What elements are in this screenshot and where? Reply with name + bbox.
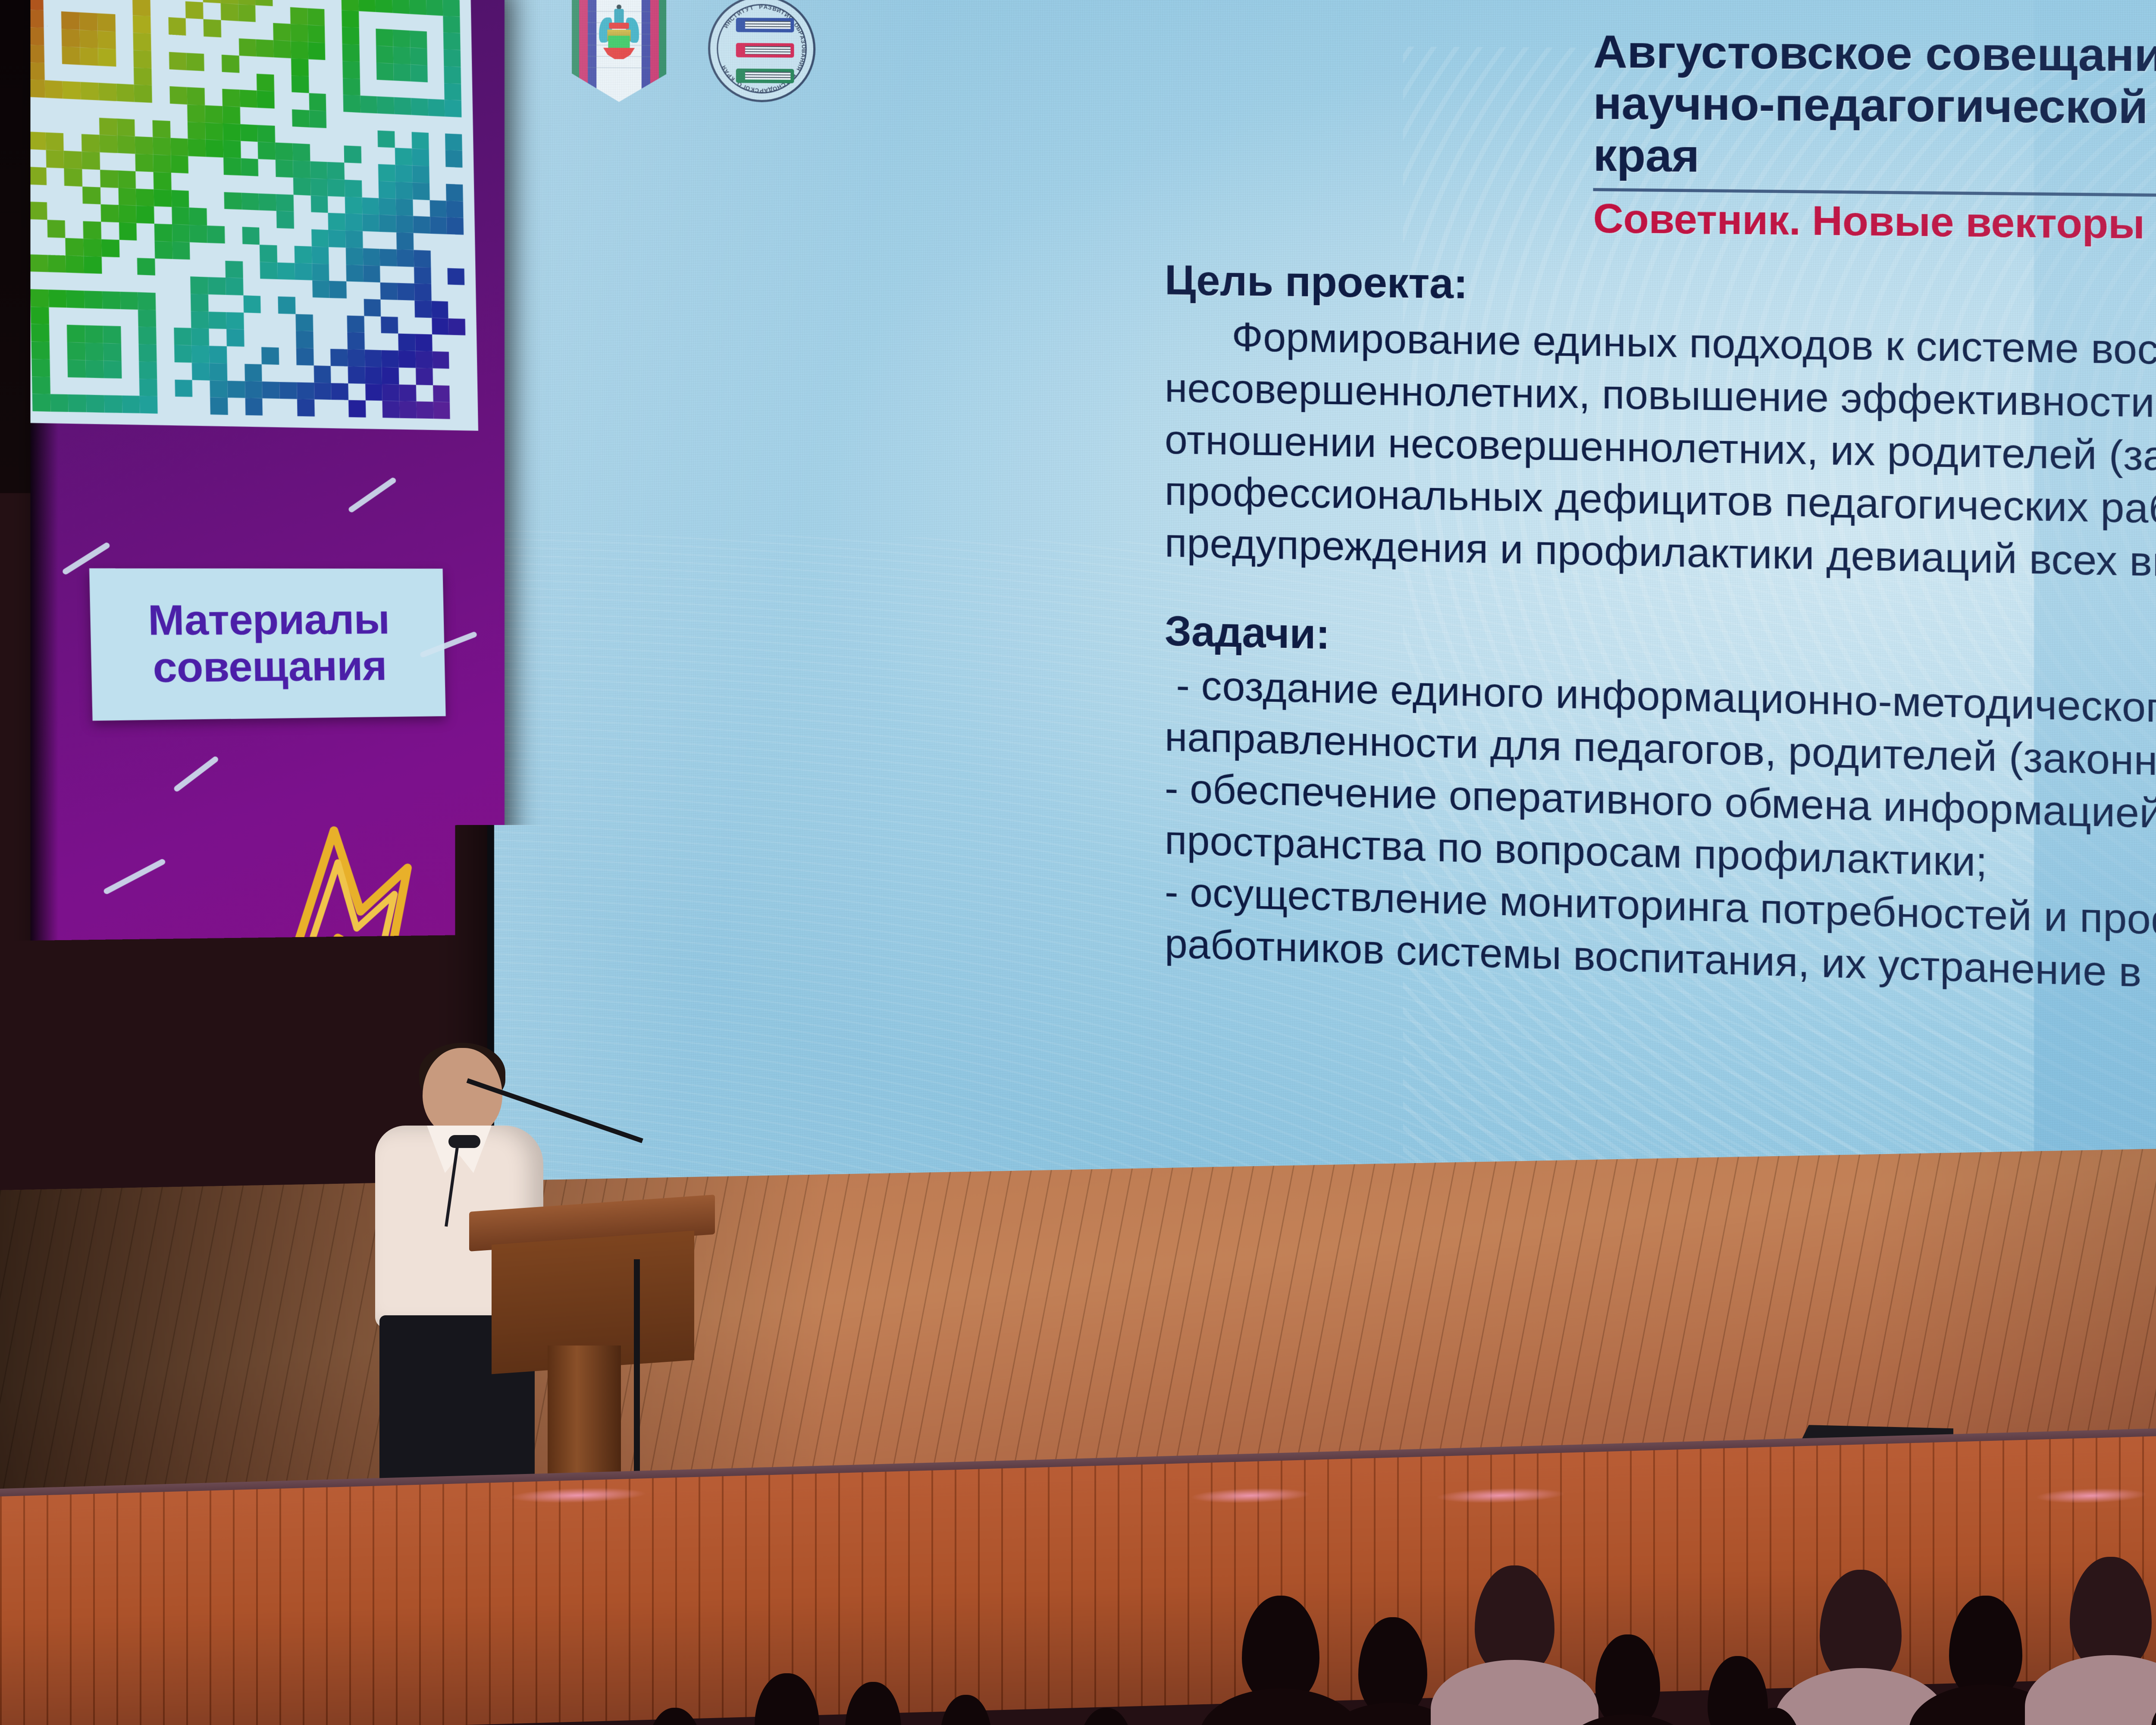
slide-subtitle: Советник. Новые векторы системы воспитан…	[1593, 196, 2156, 259]
plaque-line2: совещания	[152, 643, 387, 691]
conference-hall-photo: ИНСТИТУТ РАЗВИТИЯ ОБРАЗОВАНИЯ КРАСНОДАРС…	[0, 0, 2156, 1725]
plaque-line1: Материалы	[147, 597, 390, 644]
slide-body: Цель проекта: Формирование единых подход…	[1165, 256, 2156, 1033]
materials-plaque: Материалы совещания	[89, 568, 446, 721]
krasnodar-book-emblem-icon	[572, 0, 666, 102]
coat-of-arms-icon	[598, 9, 640, 65]
slide-header: Августовское совещание научно-педагогиче…	[1593, 26, 2156, 259]
microphone-icon	[448, 1135, 480, 1148]
qr-code-icon[interactable]	[31, 0, 479, 431]
slide-header-line2: научно-педагогической общественности Кра…	[1593, 78, 2156, 195]
institute-seal-icon: ИНСТИТУТ РАЗВИТИЯ ОБРАЗОВАНИЯ КРАСНОДАРС…	[708, 0, 815, 103]
task-item: - осуществление мониторинга потребностей…	[1165, 866, 2156, 1033]
slide-emblems: ИНСТИТУТ РАЗВИТИЯ ОБРАЗОВАНИЯ КРАСНОДАРС…	[572, 0, 815, 103]
goal-text: Формирование единых подходов к системе в…	[1165, 311, 2156, 611]
presenter-head	[423, 1048, 502, 1136]
tasks-list: - создание единого информационно-методич…	[1165, 660, 2156, 1033]
